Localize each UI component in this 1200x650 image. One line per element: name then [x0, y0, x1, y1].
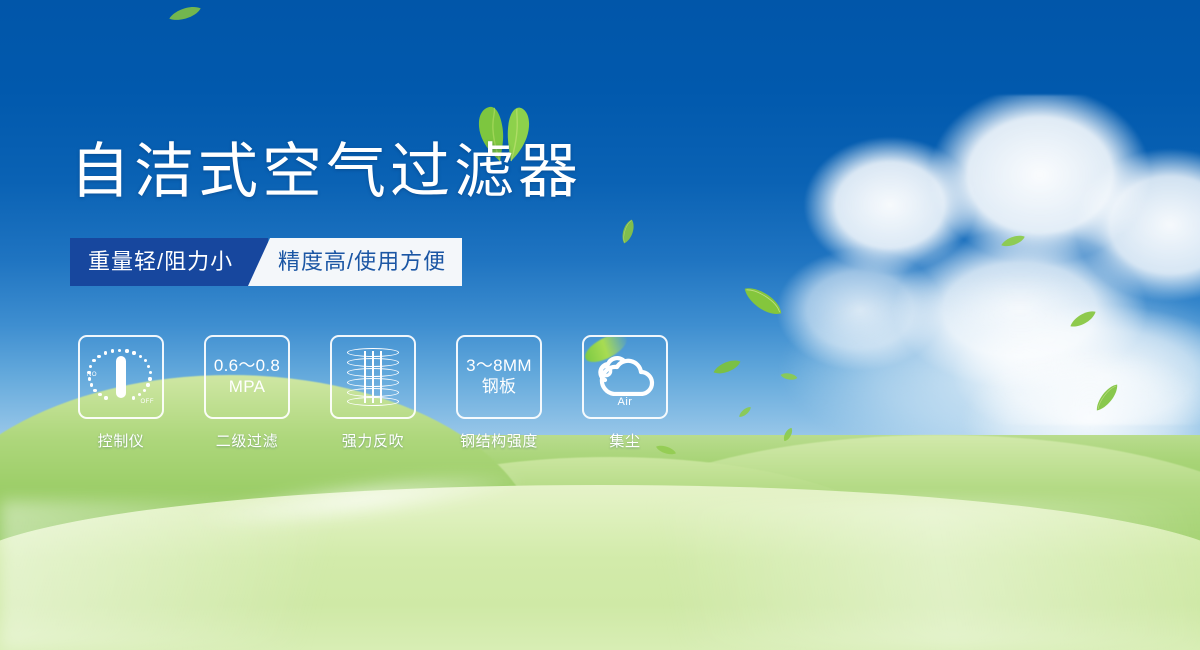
feature-label-dust-collection: 集尘	[609, 430, 640, 451]
pressure-value-line2: MPA	[214, 377, 280, 398]
gauge-label-no: NO	[87, 372, 97, 378]
air-label: Air	[592, 396, 658, 408]
feature-box-pressure: 0.6～0.8 MPA	[204, 335, 290, 419]
hero-banner: 自洁式空气过滤器 重量轻/阻力小 精度高/使用方便	[0, 0, 1200, 650]
steel-plate-text-icon: 3～8MM 钢板	[466, 356, 532, 397]
gauge-dial-icon: NO OFF	[87, 345, 155, 409]
subtitle-right-text: 精度高/使用方便	[278, 238, 446, 286]
feature-box-back-blow	[330, 335, 416, 419]
pressure-text-icon: 0.6～0.8 MPA	[214, 356, 280, 397]
feature-item-controller[interactable]: NO OFF 控制仪	[78, 335, 164, 451]
steel-thickness-line1: 3～8MM	[466, 356, 532, 377]
feature-item-back-blow[interactable]: 强力反吹	[330, 335, 416, 451]
feature-label-controller: 控制仪	[98, 430, 145, 451]
feature-box-dust-collection: Air	[582, 335, 668, 419]
feature-label-steel-strength: 钢结构强度	[460, 430, 538, 451]
subtitle-left-text: 重量轻/阻力小	[88, 238, 233, 286]
coil-spring-icon	[347, 348, 399, 406]
pressure-value-line1: 0.6～0.8	[214, 356, 280, 377]
feature-item-steel-strength[interactable]: 3～8MM 钢板 钢结构强度	[456, 335, 542, 451]
feature-list: NO OFF 控制仪 0.6～0.8 MPA 二级过滤	[78, 335, 668, 451]
steel-thickness-line2: 钢板	[466, 377, 532, 398]
gauge-needle-icon	[116, 356, 126, 398]
feature-item-dust-collection[interactable]: Air 集尘	[582, 335, 668, 451]
gauge-label-off: OFF	[141, 399, 155, 405]
feature-label-two-stage-filter: 二级过滤	[216, 430, 278, 451]
feature-box-steel-plate: 3～8MM 钢板	[456, 335, 542, 419]
feature-box-controller: NO OFF	[78, 335, 164, 419]
subtitle-band: 重量轻/阻力小 精度高/使用方便	[70, 238, 462, 286]
feature-label-back-blow: 强力反吹	[342, 430, 404, 451]
feature-item-two-stage-filter[interactable]: 0.6～0.8 MPA 二级过滤	[204, 335, 290, 451]
page-title: 自洁式空气过滤器	[70, 142, 582, 202]
cloud-air-icon: Air	[592, 348, 658, 406]
